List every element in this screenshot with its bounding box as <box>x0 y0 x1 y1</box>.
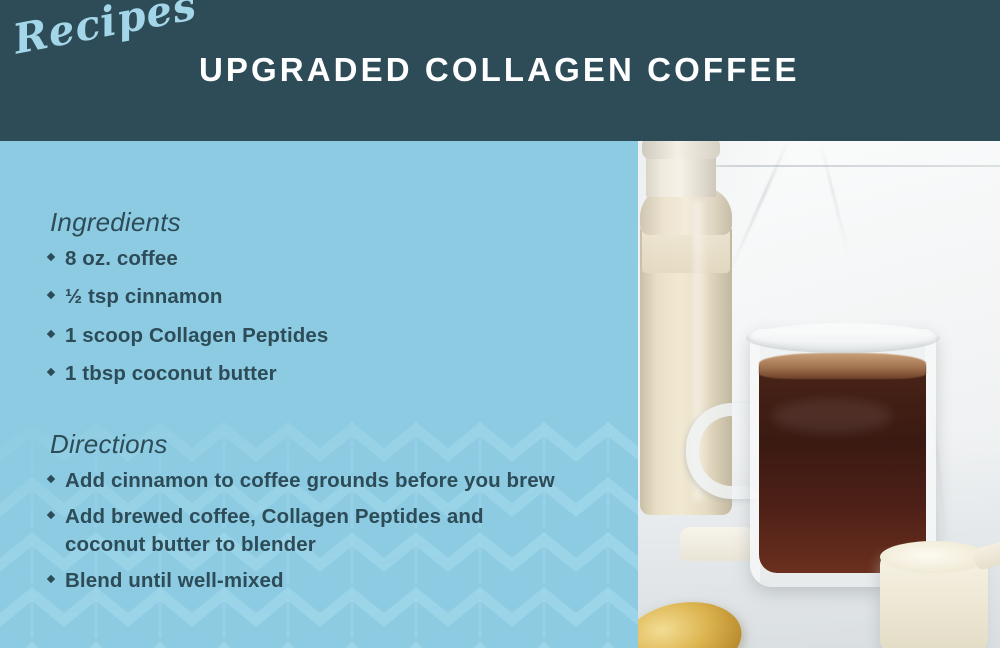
diamond-bullet-icon <box>48 476 63 482</box>
diamond-bullet-icon <box>48 369 63 375</box>
ingredient-text: 8 oz. coffee <box>65 245 628 272</box>
ingredients-list: 8 oz. coffee ½ tsp cinnamon 1 scoop Coll… <box>48 245 628 399</box>
ingredient-text: 1 scoop Collagen Peptides <box>65 322 628 349</box>
milk-bottle-lip <box>642 141 720 159</box>
diamond-bullet-icon <box>48 576 63 582</box>
ingredient-text: 1 tbsp coconut butter <box>65 360 628 387</box>
coffee-crema <box>759 353 926 379</box>
diamond-bullet-icon <box>48 331 63 337</box>
list-item: Add cinnamon to coffee grounds before yo… <box>48 467 628 494</box>
diamond-bullet-icon <box>48 254 63 260</box>
recipe-text-column: Ingredients 8 oz. coffee ½ tsp cinnamon … <box>48 141 628 648</box>
direction-line-1: Blend until well-mixed <box>65 569 284 592</box>
recipes-script-label: Recipes <box>9 0 200 64</box>
direction-text: Blend until well-mixed <box>65 567 628 594</box>
list-item: 1 scoop Collagen Peptides <box>48 322 628 349</box>
ingredients-heading: Ingredients <box>50 207 181 238</box>
diamond-bullet-icon <box>48 512 63 518</box>
direction-line-1: Add cinnamon to coffee grounds before yo… <box>65 469 555 492</box>
directions-list: Add cinnamon to coffee grounds before yo… <box>48 467 628 604</box>
recipe-photo <box>638 141 1000 648</box>
direction-text: Add cinnamon to coffee grounds before yo… <box>65 467 628 494</box>
direction-line-2: coconut butter to blender <box>65 531 628 558</box>
list-item: 1 tbsp coconut butter <box>48 360 628 387</box>
page-title: UPGRADED COLLAGEN COFFEE <box>199 51 899 89</box>
mug-rim <box>746 323 940 353</box>
background-cup <box>680 527 754 561</box>
list-item: ½ tsp cinnamon <box>48 283 628 310</box>
list-item: Add brewed coffee, Collagen Peptides and… <box>48 503 628 558</box>
direction-line-1: Add brewed coffee, Collagen Peptides and <box>65 505 484 528</box>
list-item: Blend until well-mixed <box>48 567 628 594</box>
list-item: 8 oz. coffee <box>48 245 628 272</box>
directions-heading: Directions <box>50 429 168 460</box>
coffee-liquid <box>759 361 926 573</box>
card-header: Recipes UPGRADED COLLAGEN COFFEE <box>0 0 1000 141</box>
measuring-scoop-top <box>880 541 988 573</box>
ingredient-text: ½ tsp cinnamon <box>65 283 628 310</box>
direction-text: Add brewed coffee, Collagen Peptides and… <box>65 503 628 558</box>
recipe-card: Recipes UPGRADED COLLAGEN COFFEE <box>0 0 1000 648</box>
coffee-highlight <box>772 399 892 433</box>
diamond-bullet-icon <box>48 292 63 298</box>
